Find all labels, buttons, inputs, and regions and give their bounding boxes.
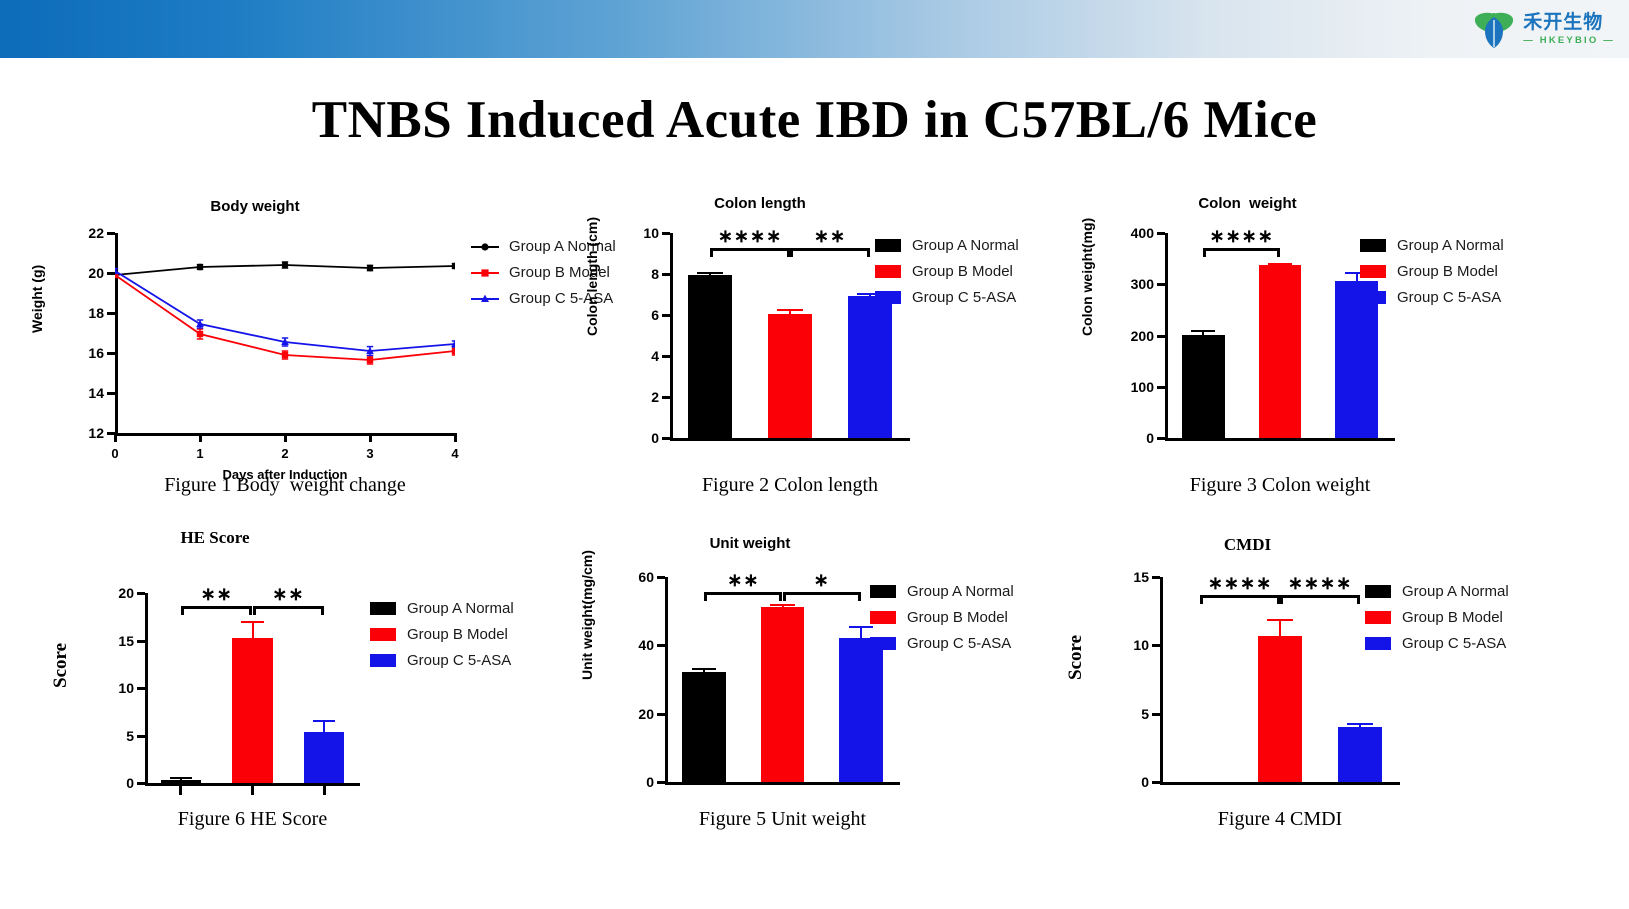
y-tick (137, 592, 145, 595)
legend-item-3: Group C 5-ASA (370, 652, 514, 669)
error-bar-cap (1267, 619, 1292, 621)
y-tick-label: 0 (646, 774, 654, 790)
chart-panel-2: Colon length0246810Colon length (cm)∗∗∗∗… (610, 195, 1080, 212)
y-tick (662, 437, 670, 440)
x-tick (114, 433, 117, 442)
x-tick (251, 786, 254, 795)
x-axis-3 (1165, 438, 1395, 441)
legend-swatch-3 (370, 654, 396, 667)
y-tick (657, 713, 665, 716)
legend-swatch-3 (870, 637, 896, 650)
legend-label-3: Group C 5-ASA (1402, 635, 1506, 652)
error-bar-cap (1268, 263, 1292, 265)
error-bar (252, 621, 254, 638)
legend-label-2: Group B Model (907, 609, 1008, 626)
plot-area-1: 121416182022Weight (g)01234Days after In… (115, 233, 455, 433)
y-tick (1157, 283, 1165, 286)
figure-caption-6: Figure 4 CMDI (1000, 808, 1560, 831)
figure-caption-5: Figure 5 Unit weight (503, 808, 1063, 831)
chart-title-5: Unit weight (600, 535, 900, 552)
error-bar-cap (777, 309, 802, 311)
chart-legend-4: Group A NormalGroup B ModelGroup C 5-ASA (370, 600, 514, 678)
bar-1 (682, 672, 726, 782)
legend-label-1: Group A Normal (1397, 237, 1504, 254)
x-tick-label: 4 (451, 446, 458, 461)
y-tick-label: 10 (118, 680, 134, 696)
y-tick-label: 0 (1146, 430, 1154, 446)
figure-caption-3: Figure 3 Colon weight (1000, 474, 1560, 497)
x-tick (369, 433, 372, 442)
bracket-tick-right (867, 248, 870, 257)
y-tick-label: 6 (651, 307, 659, 323)
y-tick-label: 12 (88, 425, 104, 441)
y-tick-label: 18 (88, 305, 104, 321)
legend-item-1: Group A Normal (370, 600, 514, 617)
legend-label-1: Group A Normal (907, 583, 1014, 600)
legend-item-2: Group B Model (875, 263, 1019, 280)
legend-swatch-3 (875, 291, 901, 304)
y-tick-label: 20 (638, 706, 654, 722)
error-bar-cap (692, 668, 717, 670)
bar-2 (1259, 265, 1302, 438)
error-bar (1279, 619, 1281, 635)
figure-caption-2: Figure 2 Colon length (510, 474, 1070, 497)
bracket-tick-left (1203, 248, 1206, 257)
bracket-tick-left (253, 606, 256, 615)
legend-swatch-1 (1365, 585, 1391, 598)
legend-line-marker (470, 266, 500, 280)
y-tick-label: 300 (1131, 276, 1154, 292)
y-tick (137, 782, 145, 785)
bar-3 (848, 296, 893, 438)
legend-symbol-circle (470, 240, 500, 254)
y-tick (1152, 781, 1160, 784)
significance-stars: ∗∗ (704, 570, 782, 591)
bracket-line (783, 592, 861, 595)
y-tick-label: 200 (1131, 328, 1154, 344)
significance-stars: ∗∗∗∗ (1280, 573, 1360, 594)
y-tick (662, 355, 670, 358)
legend-swatch-2 (870, 611, 896, 624)
legend-item-3: Group C 5-ASA (1365, 635, 1509, 652)
chart-legend-6: Group A NormalGroup B ModelGroup C 5-ASA (1365, 583, 1509, 661)
y-tick (1152, 576, 1160, 579)
y-tick-label: 15 (118, 633, 134, 649)
y-tick (657, 644, 665, 647)
x-tick-label: 2 (281, 446, 288, 461)
bar-1 (161, 780, 201, 783)
legend-item-1: Group A Normal (1365, 583, 1509, 600)
error-bar-cap (1191, 330, 1215, 332)
legend-label-3: Group C 5-ASA (907, 635, 1011, 652)
legend-swatch-3 (1365, 637, 1391, 650)
error-bar-cap (697, 272, 722, 274)
chart-legend-2: Group A NormalGroup B ModelGroup C 5-ASA (875, 237, 1019, 315)
significance-stars: ∗∗∗∗ (1203, 226, 1280, 247)
bracket-tick-left (1280, 595, 1283, 604)
significance-stars: ∗∗ (253, 584, 325, 605)
legend-label-3: Group C 5-ASA (407, 652, 511, 669)
x-tick-label: 0 (111, 446, 118, 461)
bracket-tick-right (1357, 595, 1360, 604)
x-tick (199, 433, 202, 442)
x-tick (323, 786, 326, 795)
legend-label-2: Group B Model (1402, 609, 1503, 626)
bracket-tick-left (181, 606, 184, 615)
x-tick (454, 433, 457, 442)
chart-title-1: Body weight (55, 198, 455, 215)
legend-swatch-2 (875, 265, 901, 278)
y-tick (1157, 335, 1165, 338)
bracket-tick-right (321, 606, 324, 615)
y-tick (662, 396, 670, 399)
legend-label-2: Group B Model (912, 263, 1013, 280)
y-tick (657, 781, 665, 784)
legend-label-1: Group A Normal (407, 600, 514, 617)
y-tick-label: 60 (638, 569, 654, 585)
y-tick-label: 20 (118, 585, 134, 601)
bracket-tick-left (704, 592, 707, 601)
bracket-tick-left (1200, 595, 1203, 604)
y-tick-label: 5 (1141, 706, 1149, 722)
legend-swatch-3 (1360, 291, 1386, 304)
x-tick-label: 1 (196, 446, 203, 461)
y-tick-label: 16 (88, 345, 104, 361)
legend-swatch-1 (870, 585, 896, 598)
legend-symbol-square (470, 266, 500, 280)
y-tick (657, 576, 665, 579)
legend-label-1: Group A Normal (912, 237, 1019, 254)
chart-panel-6: CMDI051015Score∗∗∗∗∗∗∗∗Group A NormalGro… (1095, 535, 1595, 555)
bracket-line (704, 592, 782, 595)
y-tick-label: 2 (651, 389, 659, 405)
y-tick (137, 687, 145, 690)
legend-item-3: Group C 5-ASA (1360, 289, 1504, 306)
legend-label-3: Group C 5-ASA (1397, 289, 1501, 306)
figure-caption-4: Figure 6 HE Score (0, 808, 533, 831)
y-tick (662, 232, 670, 235)
error-bar-cap (1347, 723, 1372, 725)
bracket-tick-left (790, 248, 793, 257)
legend-item-3: Group C 5-ASA (875, 289, 1019, 306)
error-bar-cap (170, 777, 192, 779)
x-axis-6 (1160, 782, 1400, 785)
y-tick-label: 0 (126, 775, 134, 791)
y-tick (1157, 386, 1165, 389)
y-tick (107, 272, 115, 275)
y-tick-label: 4 (651, 348, 659, 364)
figure-caption-1: Figure 1 Body weight change (5, 474, 565, 497)
chart-panel-3: Colon weight0100200300400Colon weight(mg… (1100, 195, 1570, 212)
x-axis-2 (670, 438, 910, 441)
legend-item-2: Group B Model (1360, 263, 1504, 280)
y-tick-label: 400 (1131, 225, 1154, 241)
legend-item-2: Group B Model (370, 626, 514, 643)
bracket-tick-left (783, 592, 786, 601)
y-tick-label: 40 (638, 637, 654, 653)
y-axis-3 (1165, 233, 1168, 440)
chart-panel-1: Body weight121416182022Weight (g)01234Da… (55, 198, 575, 215)
y-tick-label: 10 (1133, 637, 1149, 653)
plot-area-6: 051015Score∗∗∗∗∗∗∗∗ (1160, 577, 1400, 782)
y-tick-label: 0 (1141, 774, 1149, 790)
legend-label-3: Group C 5-ASA (912, 289, 1016, 306)
x-tick (179, 786, 182, 795)
chart-title-6: CMDI (1095, 535, 1400, 555)
bracket-line (1203, 248, 1280, 251)
y-tick (107, 232, 115, 235)
legend-swatch-2 (1365, 611, 1391, 624)
bar-1 (688, 275, 733, 438)
chart-title-3: Colon weight (1100, 195, 1395, 212)
y-tick (137, 640, 145, 643)
y-tick (1157, 437, 1165, 440)
legend-swatch-2 (1360, 265, 1386, 278)
legend-item-1: Group A Normal (875, 237, 1019, 254)
logo-en-name: — HKEYBIO — (1523, 36, 1615, 46)
plot-area-4: 05101520Score∗∗∗∗ (145, 593, 360, 783)
y-axis-5 (665, 577, 668, 784)
bracket-tick-right (1277, 248, 1280, 257)
logo-text: 禾开生物 — HKEYBIO — (1523, 13, 1615, 46)
bracket-line (181, 606, 253, 609)
chart-panel-5: Unit weight0204060Unit weight(mg/cm)∗∗∗G… (600, 535, 1090, 552)
legend-item-3: Group C 5-ASA (870, 635, 1014, 652)
bar-2 (768, 314, 813, 438)
bar-3 (304, 732, 344, 783)
legend-item-1: Group A Normal (1360, 237, 1504, 254)
chart-panel-4: HE Score05101520Score∗∗∗∗Group A NormalG… (70, 528, 590, 548)
y-tick (662, 273, 670, 276)
y-axis-6 (1160, 577, 1163, 784)
bar-2 (232, 638, 272, 783)
y-tick-label: 8 (651, 266, 659, 282)
error-bar-cap (313, 720, 335, 722)
y-tick (662, 314, 670, 317)
legend-swatch-1 (875, 239, 901, 252)
y-tick-label: 0 (651, 430, 659, 446)
bracket-line (1200, 595, 1280, 598)
bracket-tick-left (710, 248, 713, 257)
bracket-line (710, 248, 790, 251)
significance-stars: ∗∗∗∗ (710, 226, 790, 247)
y-tick-label: 20 (88, 265, 104, 281)
legend-line-marker (470, 292, 500, 306)
error-bar-cap (241, 621, 263, 623)
legend-item-1: Group A Normal (870, 583, 1014, 600)
legend-label-2: Group B Model (407, 626, 508, 643)
company-logo: 禾开生物 — HKEYBIO — (1472, 6, 1615, 52)
legend-label-1: Group A Normal (1402, 583, 1509, 600)
page-title: TNBS Induced Acute IBD in C57BL/6 Mice (0, 90, 1629, 150)
chart-title-2: Colon length (610, 195, 910, 212)
bracket-tick-right (858, 592, 861, 601)
plot-area-5: 0204060Unit weight(mg/cm)∗∗∗ (665, 577, 900, 782)
y-tick-label: 14 (88, 385, 104, 401)
significance-stars: ∗∗∗∗ (1200, 573, 1280, 594)
bar-3 (1338, 727, 1383, 782)
bar-1 (1182, 335, 1225, 438)
y-tick-label: 100 (1131, 379, 1154, 395)
bar-2 (1258, 636, 1303, 782)
chart-legend-3: Group A NormalGroup B ModelGroup C 5-ASA (1360, 237, 1504, 315)
x-axis-5 (665, 782, 900, 785)
legend-item-2: Group B Model (1365, 609, 1509, 626)
y-tick (1152, 713, 1160, 716)
y-tick-label: 15 (1133, 569, 1149, 585)
chart-legend-5: Group A NormalGroup B ModelGroup C 5-ASA (870, 583, 1014, 661)
chart-title-4: HE Score (70, 528, 360, 548)
y-axis-4 (145, 593, 148, 785)
significance-stars: ∗ (783, 570, 861, 591)
legend-item-2: Group B Model (870, 609, 1014, 626)
legend-label-2: Group B Model (1397, 263, 1498, 280)
y-tick-label: 5 (126, 728, 134, 744)
plot-area-2: 0246810Colon length (cm)∗∗∗∗∗∗ (670, 233, 910, 438)
y-tick (1157, 232, 1165, 235)
bracket-line (1280, 595, 1360, 598)
logo-cn-name: 禾开生物 (1523, 13, 1615, 32)
significance-stars: ∗∗ (790, 226, 870, 247)
y-tick (1152, 644, 1160, 647)
significance-stars: ∗∗ (181, 584, 253, 605)
header-bar (0, 0, 1629, 58)
x-tick (284, 433, 287, 442)
legend-swatch-1 (370, 602, 396, 615)
y-tick (107, 312, 115, 315)
legend-swatch-2 (370, 628, 396, 641)
bracket-line (790, 248, 870, 251)
line-series-layer (115, 233, 455, 433)
hkeybio-leaf-logo-icon (1472, 7, 1516, 51)
legend-swatch-1 (1360, 239, 1386, 252)
bar-2 (761, 607, 805, 782)
y-axis-2 (670, 233, 673, 440)
y-tick (107, 352, 115, 355)
y-tick (107, 392, 115, 395)
y-tick-label: 10 (643, 225, 659, 241)
legend-symbol-triangle (470, 292, 500, 306)
error-bar-cap (770, 604, 795, 606)
y-tick (137, 735, 145, 738)
y-tick-label: 22 (88, 225, 104, 241)
legend-line-marker (470, 240, 500, 254)
x-tick-label: 3 (366, 446, 373, 461)
bracket-line (253, 606, 325, 609)
